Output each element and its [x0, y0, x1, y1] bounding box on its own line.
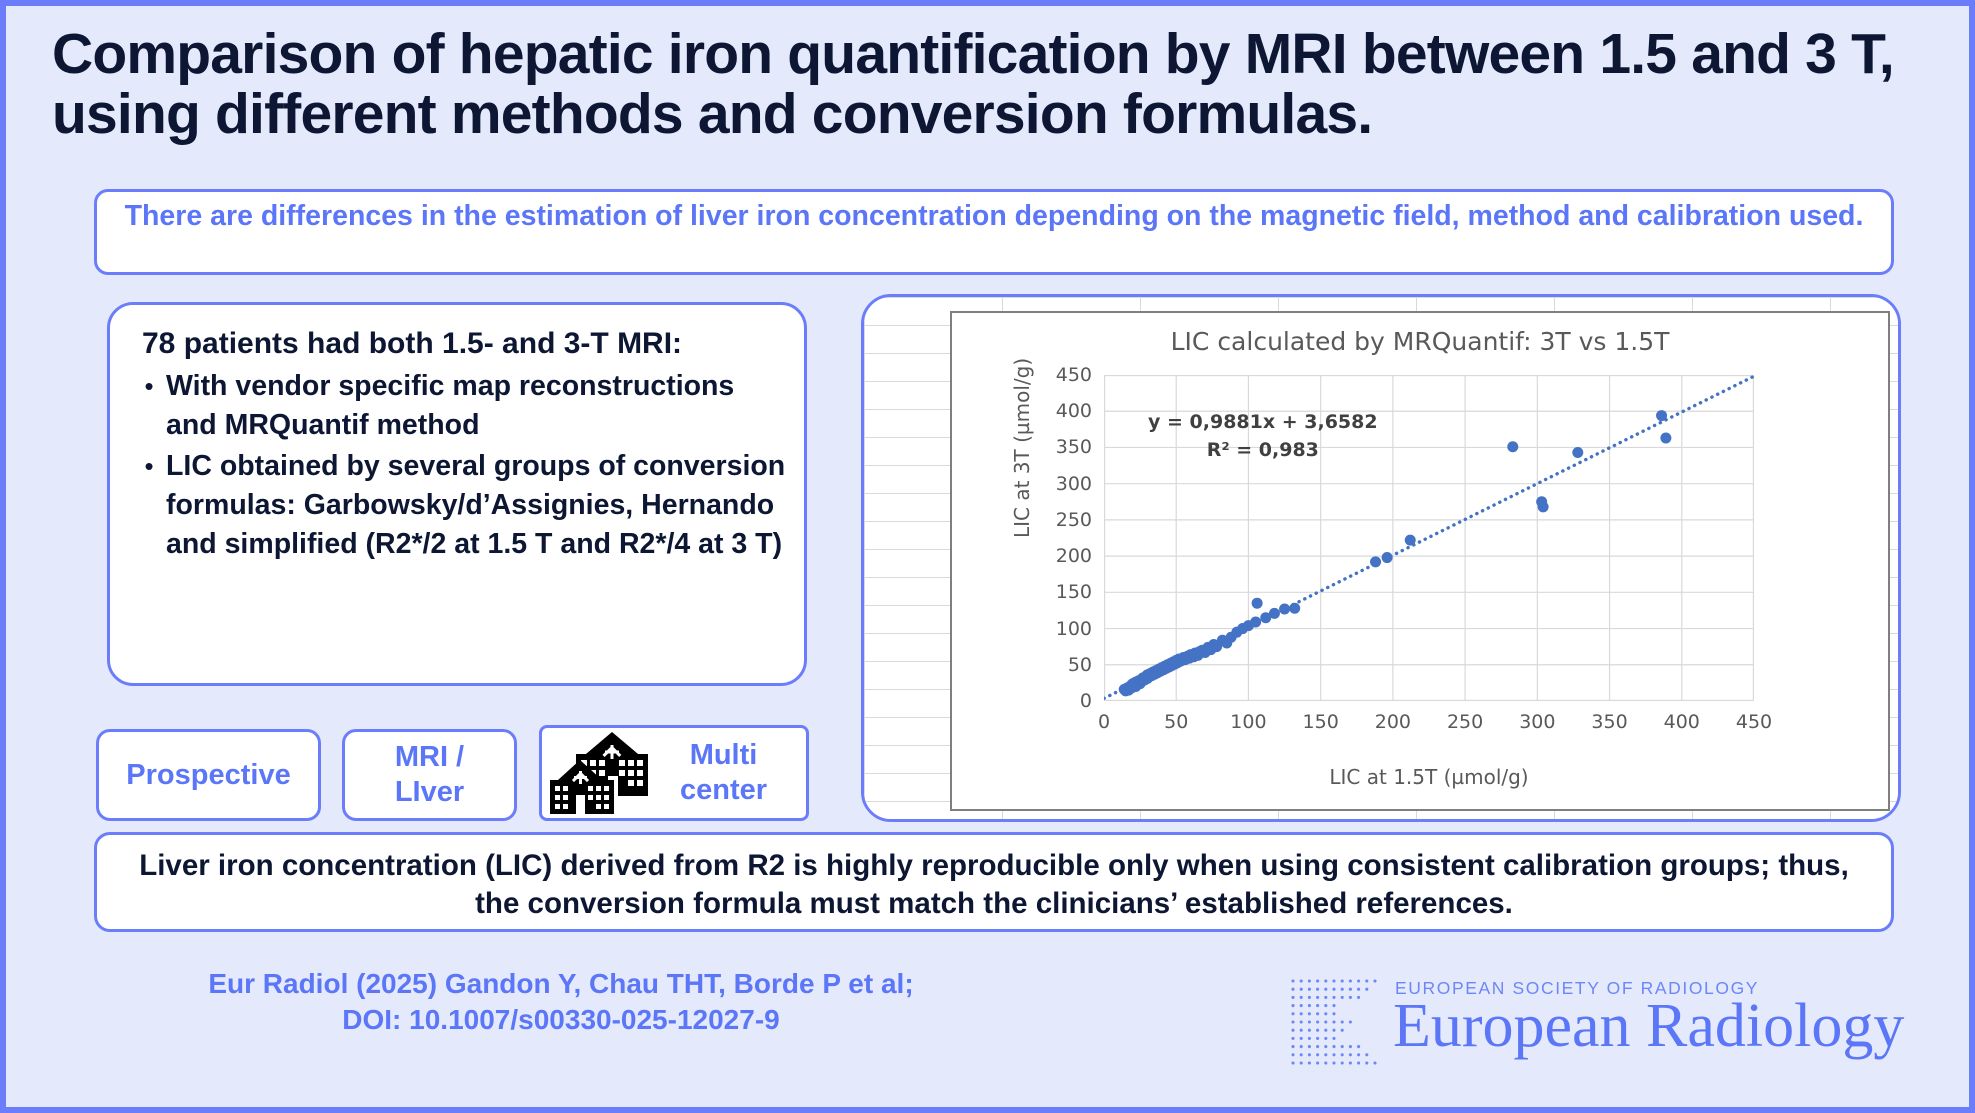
bullet-text: With vendor specific map reconstructions…: [166, 367, 790, 445]
methods-bullet-list: • With vendor specific map reconstructio…: [132, 367, 790, 566]
badge-multicenter: Multi center: [539, 725, 809, 821]
regression-annotation: y = 0,9881x + 3,6582 R² = 0,983: [1148, 409, 1378, 464]
bullet-text: LIC obtained by several groups of conver…: [166, 447, 790, 564]
x-axis-tick: 250: [1435, 711, 1495, 733]
x-axis-tick: 300: [1507, 711, 1567, 733]
x-axis-tick: 50: [1146, 711, 1206, 733]
x-axis-tick: 450: [1724, 711, 1784, 733]
y-axis-label: LIC at 3T (µmol/g): [1010, 358, 1034, 538]
x-axis-tick: 200: [1363, 711, 1423, 733]
key-finding-text: There are differences in the estimation …: [121, 199, 1867, 235]
y-axis-tick: 100: [1038, 618, 1092, 640]
x-axis-tick: 400: [1652, 711, 1712, 733]
badge-prospective: Prospective: [96, 729, 321, 821]
logo-journal-name: European Radiology: [1393, 995, 1904, 1057]
r-squared-value: R² = 0,983: [1148, 437, 1378, 465]
y-axis-tick: 400: [1038, 400, 1092, 422]
chart-object-frame: LIC calculated by MRQuantif: 3T vs 1.5T …: [950, 311, 1890, 811]
y-axis-tick: 150: [1038, 581, 1092, 603]
x-axis-tick: 0: [1074, 711, 1134, 733]
regression-equation: y = 0,9881x + 3,6582: [1148, 409, 1378, 437]
page-title: Comparison of hepatic iron quantificatio…: [52, 24, 1932, 145]
x-axis-tick: 100: [1218, 711, 1278, 733]
x-axis-tick: 350: [1580, 711, 1640, 733]
citation-line-2: DOI: 10.1007/s00330-025-12027-9: [111, 1002, 1011, 1038]
y-axis-tick: 50: [1038, 654, 1092, 676]
methods-card: 78 patients had both 1.5- and 3-T MRI: •…: [107, 302, 807, 686]
list-item: • With vendor specific map reconstructio…: [132, 367, 790, 445]
chart-card: LIC calculated by MRQuantif: 3T vs 1.5T …: [861, 294, 1901, 822]
y-axis-tick: 0: [1038, 690, 1092, 712]
chart-title: LIC calculated by MRQuantif: 3T vs 1.5T: [952, 327, 1888, 356]
citation: Eur Radiol (2025) Gandon Y, Chau THT, Bo…: [111, 966, 1011, 1039]
citation-line-1: Eur Radiol (2025) Gandon Y, Chau THT, Bo…: [111, 966, 1011, 1002]
badge-label: MRI / LIver: [395, 740, 464, 810]
graphical-abstract-poster: Comparison of hepatic iron quantificatio…: [0, 0, 1975, 1113]
bullet-marker-icon: •: [132, 447, 166, 486]
x-axis-tick: 150: [1291, 711, 1351, 733]
badge-label: Multi center: [680, 738, 767, 808]
conclusion-card: Liver iron concentration (LIC) derived f…: [94, 832, 1894, 932]
x-axis-label: LIC at 1.5T (µmol/g): [1104, 765, 1754, 789]
methods-heading: 78 patients had both 1.5- and 3-T MRI:: [142, 327, 682, 361]
key-finding-card: There are differences in the estimation …: [94, 189, 1894, 275]
y-axis-tick: 350: [1038, 436, 1092, 458]
badge-label: Prospective: [126, 758, 290, 793]
european-radiology-logo: EUROPEAN SOCIETY OF RADIOLOGY European R…: [1289, 969, 1919, 1079]
badge-modality: MRI / LIver: [342, 729, 517, 821]
list-item: • LIC obtained by several groups of conv…: [132, 447, 790, 564]
y-axis-tick: 200: [1038, 545, 1092, 567]
y-axis-tick: 250: [1038, 509, 1092, 531]
y-axis-tick: 300: [1038, 473, 1092, 495]
hospital-buildings-icon: [550, 730, 674, 816]
conclusion-text: Liver iron concentration (LIC) derived f…: [125, 847, 1863, 923]
y-axis-tick: 450: [1038, 364, 1092, 386]
dotted-e-icon: [1289, 977, 1381, 1069]
bullet-marker-icon: •: [132, 367, 166, 406]
